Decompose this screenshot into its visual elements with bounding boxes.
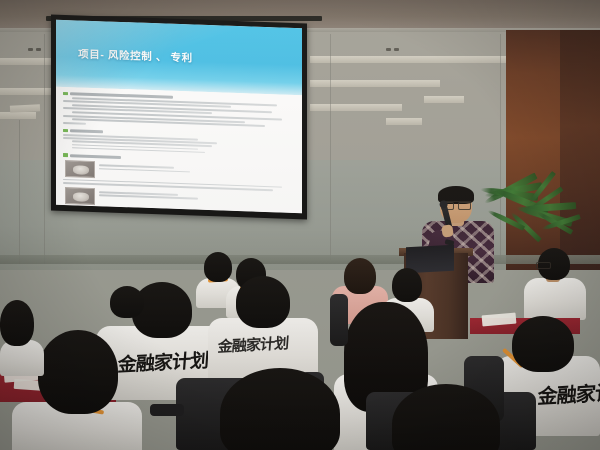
audience-member: [392, 384, 522, 450]
wall-vent: [36, 48, 41, 51]
chair-arm: [150, 404, 184, 416]
projector-screen: 项目- 风险控制 、 专利: [51, 15, 307, 220]
green-square-bullet-icon: [63, 129, 68, 133]
wall-slat: [310, 56, 510, 63]
tshirt-logo: 金融家计划: [537, 376, 600, 410]
slide-text-line: [99, 195, 198, 200]
presenter-hand: [441, 224, 454, 237]
green-square-bullet-icon: [63, 153, 68, 157]
head: [110, 286, 144, 318]
wall-vent: [28, 48, 33, 51]
slide-text-line: [99, 168, 190, 173]
audience-member: [524, 248, 586, 318]
tshirt-logo: 金融家计划: [217, 332, 289, 357]
white-tshirt: [524, 278, 586, 320]
head: [0, 300, 34, 346]
wall-slat: [310, 104, 402, 111]
wall-slat: [386, 118, 422, 125]
slide-text-line: [63, 122, 86, 125]
audience-member: [212, 368, 362, 450]
wall-seam: [19, 120, 20, 264]
audience-member: 金融家计划: [208, 276, 318, 380]
green-square-bullet-icon: [63, 92, 68, 96]
head: [392, 384, 500, 450]
head: [392, 268, 422, 302]
wall-seam: [330, 34, 331, 260]
heading-text-blur: [70, 129, 103, 133]
head: [512, 316, 574, 372]
slide-surface: 项目- 风险控制 、 专利: [56, 20, 302, 214]
head: [220, 368, 340, 450]
audience-member: [0, 300, 44, 370]
audience-member: [110, 286, 150, 326]
wall-vent: [394, 48, 399, 51]
chair-back: [330, 294, 348, 346]
head: [236, 276, 290, 328]
slide-body: [56, 86, 302, 213]
heading-text-blur: [70, 154, 121, 159]
slide-thumbnail-image: [65, 187, 95, 205]
glasses-icon: [536, 262, 551, 269]
head: [344, 258, 376, 294]
wall-vent: [386, 48, 391, 51]
wall-slat: [424, 96, 464, 103]
wall-seam: [44, 34, 45, 264]
wall-slat: [0, 112, 36, 119]
head: [38, 330, 118, 414]
photograph-scene: 项目- 风险控制 、 专利: [0, 0, 600, 450]
slide-thumbnail-image: [65, 160, 95, 178]
